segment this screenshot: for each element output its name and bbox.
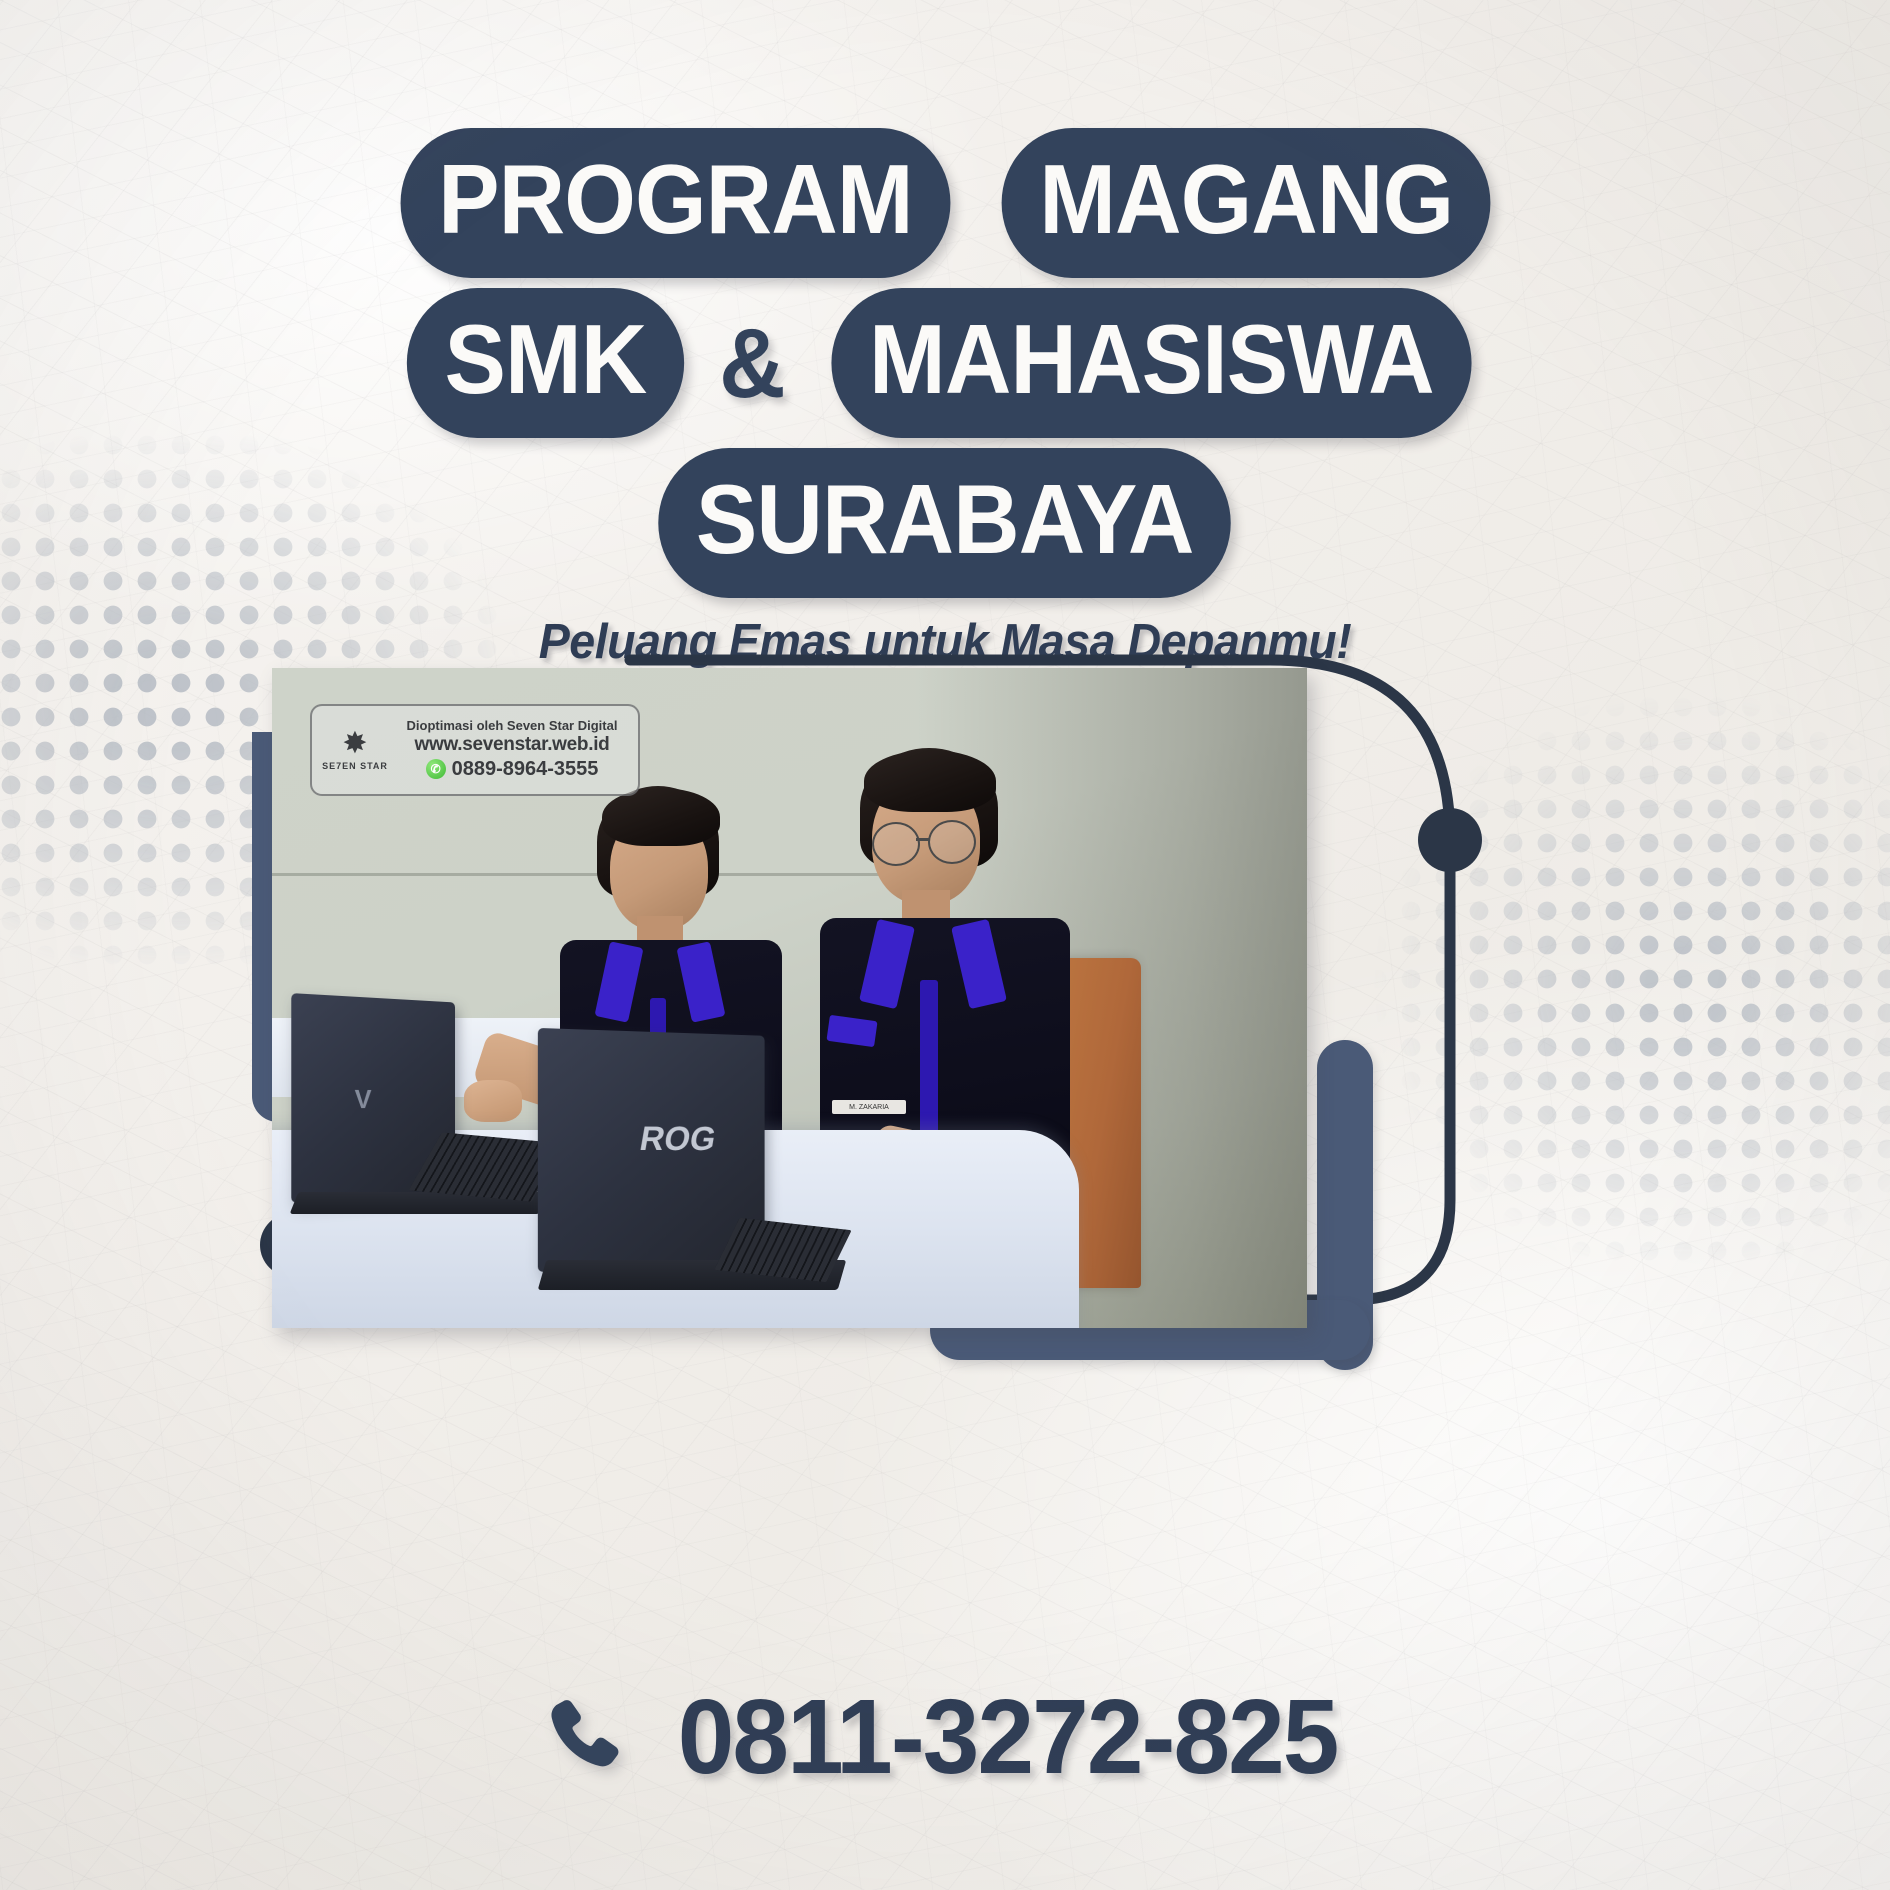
watermark-phone-number: 0889-8964-3555 [452,757,599,781]
laptop-left-logo: V [355,1084,372,1115]
watermark-line-website: www.sevenstar.web.id [396,734,628,757]
person-right-hair-top [864,750,996,812]
frame-node-top-right [1418,808,1482,872]
headline-word-program: PROGRAM [401,128,951,278]
sevenstar-star-icon: ✸ [322,729,388,759]
headline-word-surabaya: SURABAYA [659,448,1232,598]
watermark-line-phone: ✆ 0889-8964-3555 [396,757,628,781]
headline-ampersand: & [713,314,791,412]
watermark-badge: ✸ SE7EN STAR Dioptimasi oleh Seven Star … [310,704,640,796]
poster-canvas: PROGRAM MAGANG SMK & MAHASISWA SURABAYA … [0,0,1890,1890]
watermark-line-credit: Dioptimasi oleh Seven Star Digital [396,719,628,734]
footer-contact: 0811-3272-825 [0,1677,1890,1798]
glasses-lens-right [928,820,976,864]
headline-word-mahasiswa: MAHASISWA [832,288,1472,438]
watermark-text-block: Dioptimasi oleh Seven Star Digital www.s… [396,719,628,781]
headline-word-magang: MAGANG [1002,128,1491,278]
glasses-bridge [916,838,930,841]
headline-block: PROGRAM MAGANG SMK & MAHASISWA SURABAYA [0,128,1890,608]
laptop-right-logo: ROG [637,1120,719,1159]
sevenstar-logo-label: SE7EN STAR [322,761,388,771]
whatsapp-icon: ✆ [426,759,446,779]
internship-photo: M. ILVAZ NUR A [272,668,1307,1328]
headline-line-3: SURABAYA [0,448,1890,598]
headline-word-smk: SMK [407,288,684,438]
headline-line-1: PROGRAM MAGANG [0,128,1890,278]
sevenstar-logo: ✸ SE7EN STAR [322,729,388,771]
person-left-hand [464,1080,522,1122]
phone-icon [538,1692,630,1784]
photo-frame-zone: M. ILVAZ NUR A [200,600,1690,1380]
glasses-lens-left [872,822,920,866]
footer-phone-number: 0811-3272-825 [678,1677,1338,1798]
headline-line-2: SMK & MAHASISWA [0,288,1890,438]
person-right-nametag: M. ZAKARIA [832,1100,906,1114]
person-left-hair-top [602,788,720,846]
